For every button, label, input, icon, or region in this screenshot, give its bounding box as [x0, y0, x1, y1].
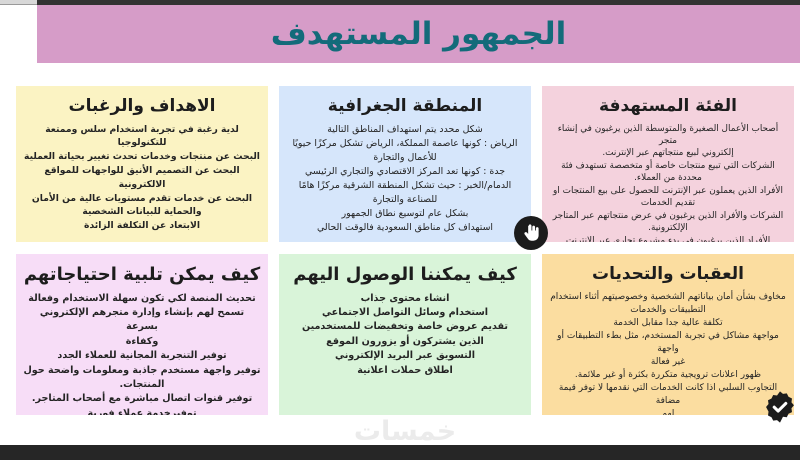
card-body: انشاء محتوى جذاب استخدام وسائل التواصل ا… [286, 292, 524, 378]
card-line: تحديث المنصة لكي تكون سهلة الاستخدام وفع… [23, 292, 261, 306]
pointing-hand-cursor-icon[interactable] [514, 216, 548, 250]
card-line: الشركات التي تبيع منتجات خاصة أو متخصصة … [549, 160, 787, 172]
card-line: البحث عن منتجات وخدمات تحدث تغيير بحياتة… [23, 150, 261, 164]
card-line: البحث عن خدمات تقدم مستويات عالية من الأ… [23, 192, 261, 206]
card-line: مواجهة مشاكل في تجربة المستخدم، مثل بطء … [549, 330, 787, 356]
card-line: توفيرخدمة عملاء فورية [23, 407, 261, 415]
card-title: المنطقة الجغرافية [286, 97, 524, 117]
card-line: التجاوب السلبي اذا كانت الخدمات التي نقد… [549, 382, 787, 408]
watermark: خمسات [10, 416, 800, 447]
card-body: لدية رغبة في تجربة استخدام سلس وممتعة لل… [23, 123, 261, 233]
card-title: كيف يمكن تلبية احتياجاتهم [23, 265, 261, 286]
card-body: تحديث المنصة لكي تكون سهلة الاستخدام وفع… [23, 292, 261, 415]
card-line: تكلفة عالية جدا مقابل الخدمة [549, 317, 787, 330]
card-line: جدة : كونها تعد المركز الاقتصادي والتجار… [286, 165, 524, 179]
card-line: للصناعة والتجارة [286, 193, 524, 207]
card-line: انشاء محتوى جذاب [286, 292, 524, 306]
card-line: محددة من العملاء. [549, 172, 787, 184]
card-target-segment[interactable]: الفئة المستهدفة أصحاب الأعمال الصغيرة وا… [542, 86, 794, 242]
card-line: لدية رغبة في تجربة استخدام سلس وممتعة لل… [23, 123, 261, 151]
card-line: الرياض : كونها عاصمة المملكة، الرياض تشك… [286, 137, 524, 151]
card-line: تسمح لهم بإنشاء وإدارة متجرهم الإلكتروني… [23, 306, 261, 335]
card-line: التطبيقات والخدمات [549, 304, 787, 317]
card-line: غير فعالة [549, 356, 787, 369]
card-line: إلكتروني لبيع منتجاتهم عبر الإنترنت. [549, 147, 787, 159]
card-title: كيف يمكننا الوصول اليهم [286, 265, 524, 286]
bottom-chrome-bar [0, 445, 800, 460]
slide-screen: الجمهور المستهدف الفئة المستهدفة أصحاب ا… [0, 0, 800, 460]
card-line: التسويق عبر البريد الإلكتروني [286, 349, 524, 363]
card-line: الشركات والأفراد الذين يرغبون في عرض منت… [549, 210, 787, 222]
card-line: للأعمال والتجارة [286, 151, 524, 165]
card-title: الاهداف والرغبات [23, 97, 261, 117]
card-line: الذين يشتركون أو يزورون الموقع [286, 335, 524, 349]
card-line: المنتجات. [23, 378, 261, 392]
card-title: العقبات والتحديات [549, 265, 787, 285]
card-line: الدمام/الخبر : حيث تشكل المنطقة الشرقية … [286, 179, 524, 193]
slide-page: الجمهور المستهدف الفئة المستهدفة أصحاب ا… [10, 5, 800, 445]
title-banner: الجمهور المستهدف [37, 5, 800, 63]
card-line: البحث عن التصميم الأنيق للواجهات للمواقع… [23, 164, 261, 192]
card-geographic-region[interactable]: المنطقة الجغرافية شكل محدد يتم استهداف ا… [279, 86, 531, 242]
card-line: توفير واجهة مستخدم جاذبة ومعلومات واضحة … [23, 364, 261, 378]
card-line: بشكل عام لتوسيع نطاق الجمهور [286, 207, 524, 221]
card-goals-and-desires[interactable]: الاهداف والرغبات لدية رغبة في تجربة استخ… [16, 86, 268, 242]
card-line: أصحاب الأعمال الصغيرة والمتوسطة الذين ير… [549, 123, 787, 148]
card-line: تقديم عروض خاصة وتخفيضات للمستخدمين [286, 320, 524, 334]
card-line: توفير التنجربة المجانية للعملاء الجدد [23, 349, 261, 363]
card-line: وكفاءة [23, 335, 261, 349]
card-line: مخاوف بشأن أمان بياناتهم الشخصية وخصوصيت… [549, 291, 787, 304]
card-line: تقديم الخدمات [549, 197, 787, 209]
card-how-to-meet-their-needs[interactable]: كيف يمكن تلبية احتياجاتهم تحديث المنصة ل… [16, 254, 268, 415]
cards-grid: الفئة المستهدفة أصحاب الأعمال الصغيرة وا… [16, 86, 794, 415]
card-line: لهم [549, 408, 787, 415]
card-line: توفير قنوات اتصال مباشرة مع أصحاب المتاج… [23, 392, 261, 406]
card-line: الابتعاد عن التكلفة الزائدة [23, 219, 261, 233]
card-how-to-reach-them[interactable]: كيف يمكننا الوصول اليهم انشاء محتوى جذاب… [279, 254, 531, 415]
card-line: والحماية للبيانات الشخصية [23, 205, 261, 219]
card-line: ظهور اعلانات ترويجية متكررة بكثرة أو غير… [549, 369, 787, 382]
card-line: الإلكترونية. [549, 222, 787, 234]
card-body: شكل محدد يتم استهداف المناطق التالية الر… [286, 123, 524, 236]
card-title: الفئة المستهدفة [549, 97, 787, 117]
card-obstacles-and-challenges[interactable]: العقبات والتحديات مخاوف بشأن أمان بيانات… [542, 254, 794, 415]
card-line: شكل محدد يتم استهداف المناطق التالية [286, 123, 524, 137]
card-line: اطلاق حملات اعلانية [286, 364, 524, 378]
page-title: الجمهور المستهدف [271, 19, 567, 50]
card-line: استهداف كل مناطق السعودية فالوقت الحالي [286, 221, 524, 235]
card-line: الأفراد الذين يعملون عبر الإنترنت للحصول… [549, 185, 787, 197]
card-line: الأفراد الذين يرغبون في بدء مشروع تجاري … [549, 235, 787, 242]
card-body: مخاوف بشأن أمان بياناتهم الشخصية وخصوصيت… [549, 291, 787, 415]
card-body: أصحاب الأعمال الصغيرة والمتوسطة الذين ير… [549, 123, 787, 242]
card-line: استخدام وسائل التواصل الاجتماعي [286, 306, 524, 320]
